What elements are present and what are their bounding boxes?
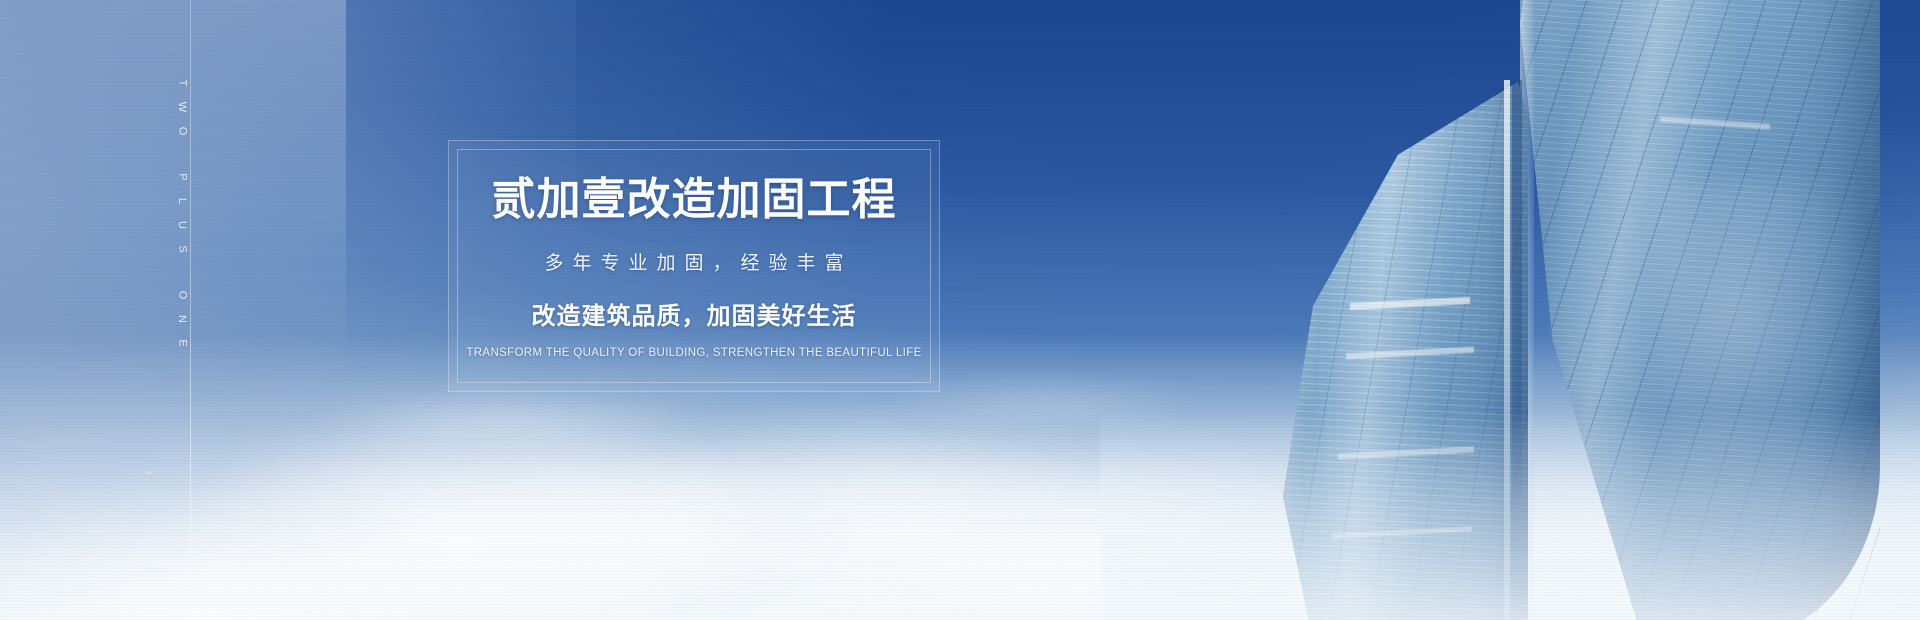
hero-text-panel: 贰加壹改造加固工程 多年专业加固，经验丰富 改造建筑品质，加固美好生活 TRAN… <box>448 140 940 392</box>
vertical-divider-line <box>190 0 191 620</box>
hero-title: 贰加壹改造加固工程 <box>492 177 897 223</box>
hero-subtitle-secondary: 改造建筑品质，加固美好生活 <box>532 296 857 331</box>
brand-letter: O <box>176 291 187 301</box>
panel-content: 贰加壹改造加固工程 多年专业加固，经验丰富 改造建筑品质，加固美好生活 TRAN… <box>449 141 939 391</box>
vertical-brand-text: T W O P L U S O N E <box>176 78 187 349</box>
brand-letter: N <box>176 315 187 324</box>
hero-english-tagline: TRANSFORM THE QUALITY OF BUILDING, STREN… <box>466 347 921 359</box>
tower-base-mist <box>1100 410 1920 620</box>
cloud-wisp <box>300 392 720 450</box>
hero-banner: T W O P L U S O N E 1 贰加壹改造加固工程 多年专业加固，经… <box>0 0 1920 620</box>
brand-letter: P <box>176 173 187 181</box>
brand-letter: U <box>176 221 187 230</box>
hero-subtitle-primary: 多年专业加固，经验丰富 <box>535 248 852 275</box>
brand-letter: W <box>176 102 187 113</box>
brand-letter: L <box>176 198 187 205</box>
brand-letter: O <box>176 127 187 137</box>
vertical-bottom-mark: 1 <box>144 470 154 476</box>
brand-letter: S <box>176 245 187 253</box>
brand-letter: E <box>176 339 187 347</box>
sky-left-haze <box>0 0 346 384</box>
brand-letter: T <box>176 80 187 88</box>
skyscraper-group <box>1100 0 1920 620</box>
